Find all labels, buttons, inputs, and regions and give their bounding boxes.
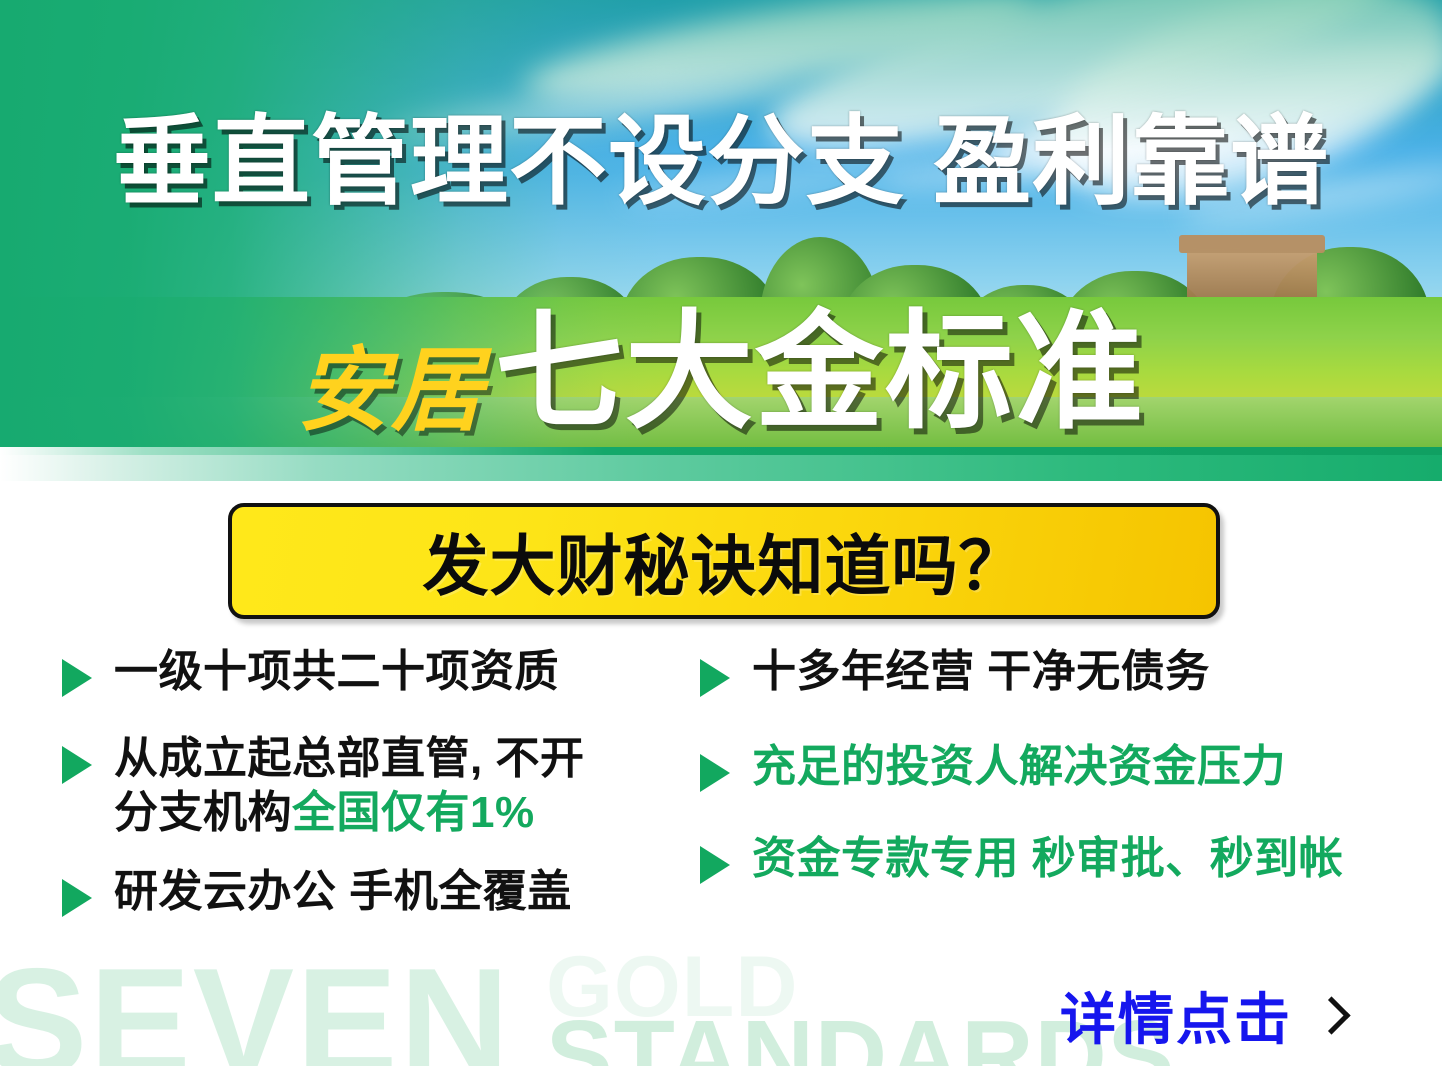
- hero-subheadline: 七大金标准: [495, 268, 1145, 453]
- hero-banner: 垂直管理不设分支 盈利靠谱 安居七大金标准: [0, 0, 1442, 455]
- headline-banner[interactable]: 发大财秘诀知道吗？: [228, 503, 1220, 619]
- triangle-bullet-icon: [700, 846, 730, 884]
- feature-label: 资金专款专用 秒审批、秒到帐: [752, 832, 1343, 887]
- feature-line-1: 从成立起总部直管, 不开: [114, 734, 584, 783]
- feature-label: 从成立起总部直管, 不开分支机构全国仅有1%: [114, 732, 584, 841]
- details-cta-label: 详情点击: [1060, 975, 1292, 1056]
- feature-item: 资金专款专用 秒审批、秒到帐: [700, 832, 1420, 887]
- feature-item: 十多年经营 干净无债务: [700, 645, 1420, 700]
- chevron-right-icon: [1312, 996, 1350, 1034]
- headline-banner-label: 发大财秘诀知道吗？: [423, 513, 1026, 609]
- hero-subheadline-row: 安居七大金标准: [0, 268, 1442, 453]
- hero-headline: 垂直管理不设分支 盈利靠谱: [0, 112, 1442, 210]
- feature-label: 一级十项共二十项资质: [114, 645, 559, 700]
- feature-label: 研发云办公 手机全覆盖: [114, 865, 572, 920]
- feature-item: 研发云办公 手机全覆盖: [62, 865, 702, 920]
- feature-item: 从成立起总部直管, 不开分支机构全国仅有1%: [62, 732, 702, 841]
- feature-label: 十多年经营 干净无债务: [752, 645, 1210, 700]
- triangle-bullet-icon: [700, 754, 730, 792]
- feature-column-right: 十多年经营 干净无债务 充足的投资人解决资金压力 资金专款专用 秒审批、秒到帐: [700, 645, 1420, 909]
- brand-name: 安居: [297, 316, 485, 449]
- promo-poster: 垂直管理不设分支 盈利靠谱 安居七大金标准 发大财秘诀知道吗？ 一级十项共二十项…: [0, 0, 1442, 1066]
- feature-item: 充足的投资人解决资金压力: [700, 740, 1420, 795]
- triangle-bullet-icon: [700, 659, 730, 697]
- feature-item: 一级十项共二十项资质: [62, 645, 702, 700]
- feature-label: 充足的投资人解决资金压力: [752, 740, 1286, 795]
- hero-divider-band: [0, 455, 1442, 481]
- feature-line-2-prefix: 分支机构: [114, 788, 292, 837]
- feature-list: 一级十项共二十项资质 从成立起总部直管, 不开分支机构全国仅有1% 研发云办公 …: [0, 645, 1442, 985]
- triangle-bullet-icon: [62, 746, 92, 784]
- triangle-bullet-icon: [62, 659, 92, 697]
- feature-line-2-highlight: 全国仅有1%: [292, 788, 535, 837]
- triangle-bullet-icon: [62, 879, 92, 917]
- details-cta-button[interactable]: 详情点击: [1060, 975, 1345, 1056]
- feature-column-left: 一级十项共二十项资质 从成立起总部直管, 不开分支机构全国仅有1% 研发云办公 …: [62, 645, 702, 941]
